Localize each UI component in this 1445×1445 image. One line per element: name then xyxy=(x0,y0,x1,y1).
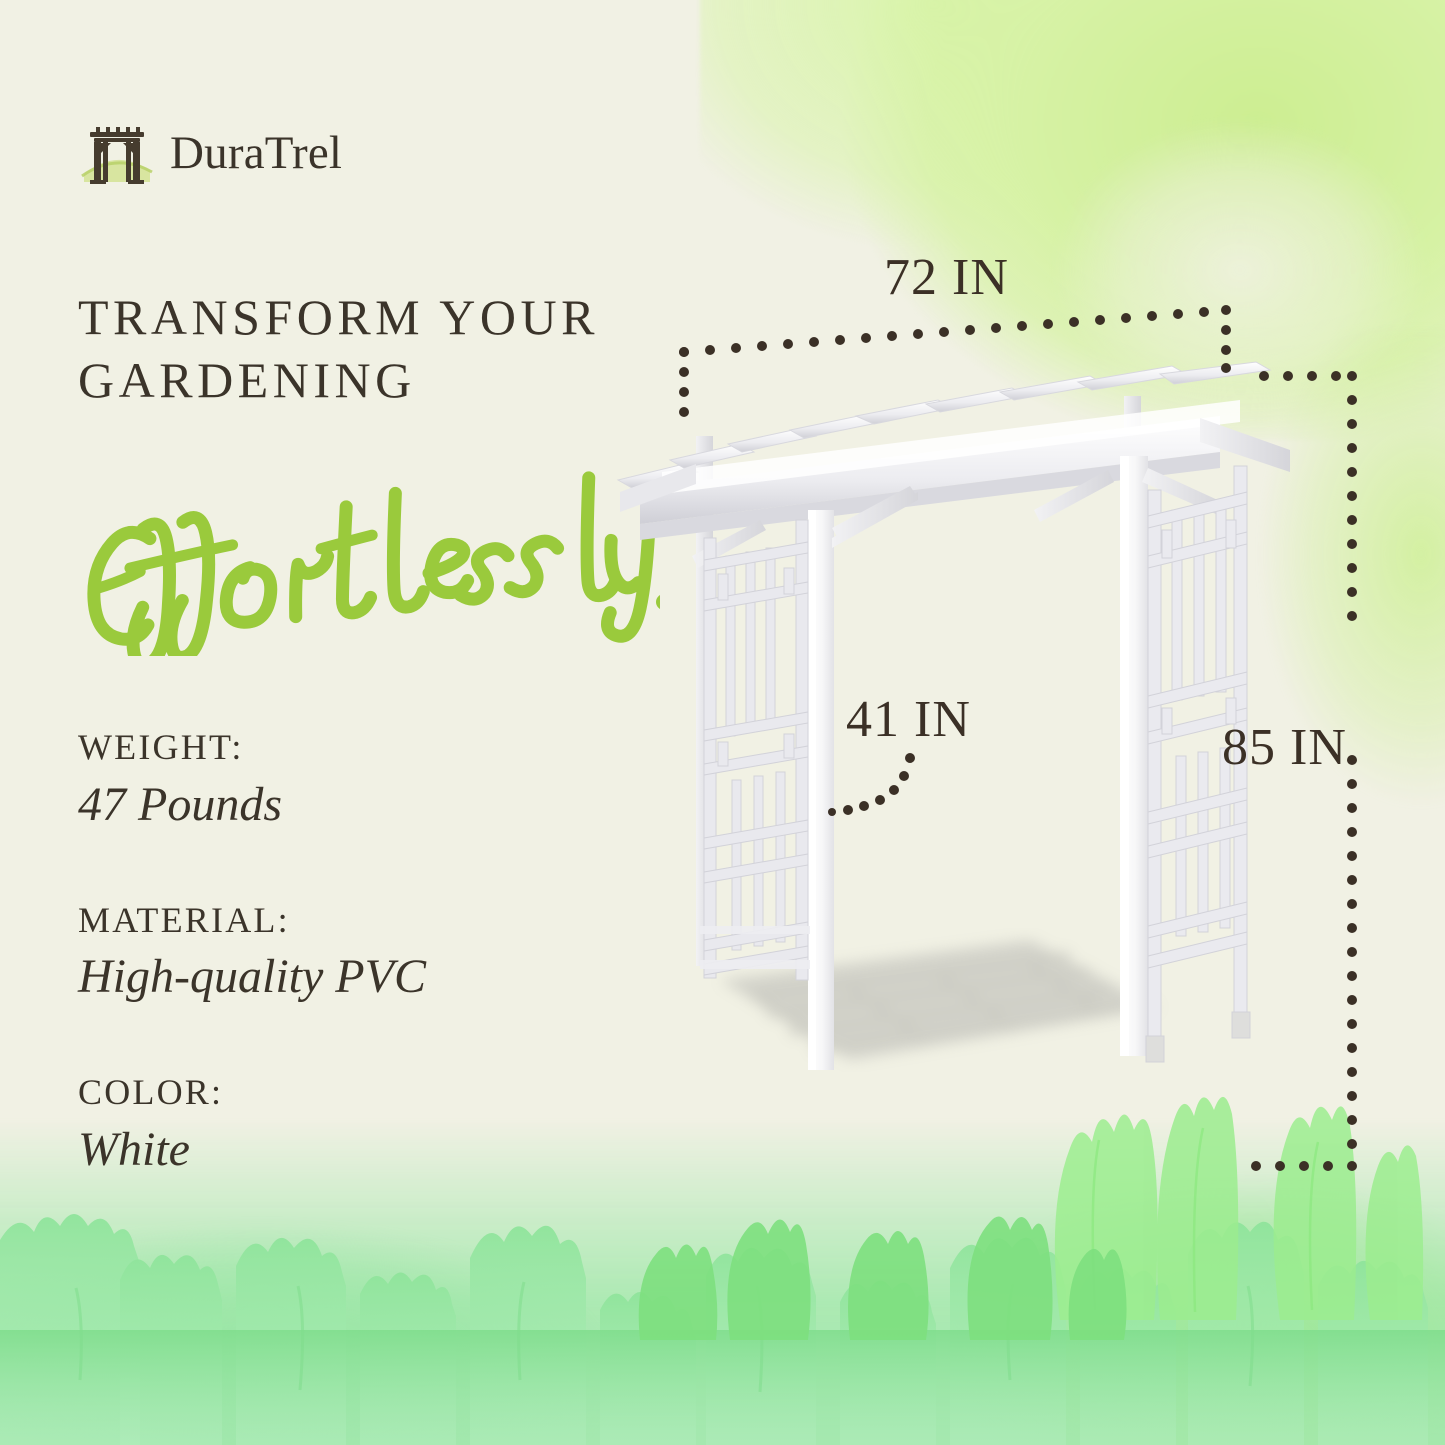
dimension-label-depth: 41 IN xyxy=(846,690,971,749)
product-infographic: DuraTrel TRANSFORM YOUR GARDENING xyxy=(0,0,1445,1445)
headline-line-1: TRANSFORM YOUR xyxy=(78,286,678,349)
brand-logo[interactable]: DuraTrel xyxy=(78,118,342,188)
dimension-label-width: 72 IN xyxy=(884,248,1009,307)
headline-line-2: GARDENING xyxy=(78,349,678,412)
arbor-pergola-icon xyxy=(78,118,156,188)
dimension-label-height: 85 IN xyxy=(1222,718,1347,777)
headline-script-word xyxy=(60,466,660,656)
page-title: TRANSFORM YOUR GARDENING xyxy=(78,286,678,412)
product-image-arbor xyxy=(600,360,1300,1170)
brand-name: DuraTrel xyxy=(170,130,342,177)
